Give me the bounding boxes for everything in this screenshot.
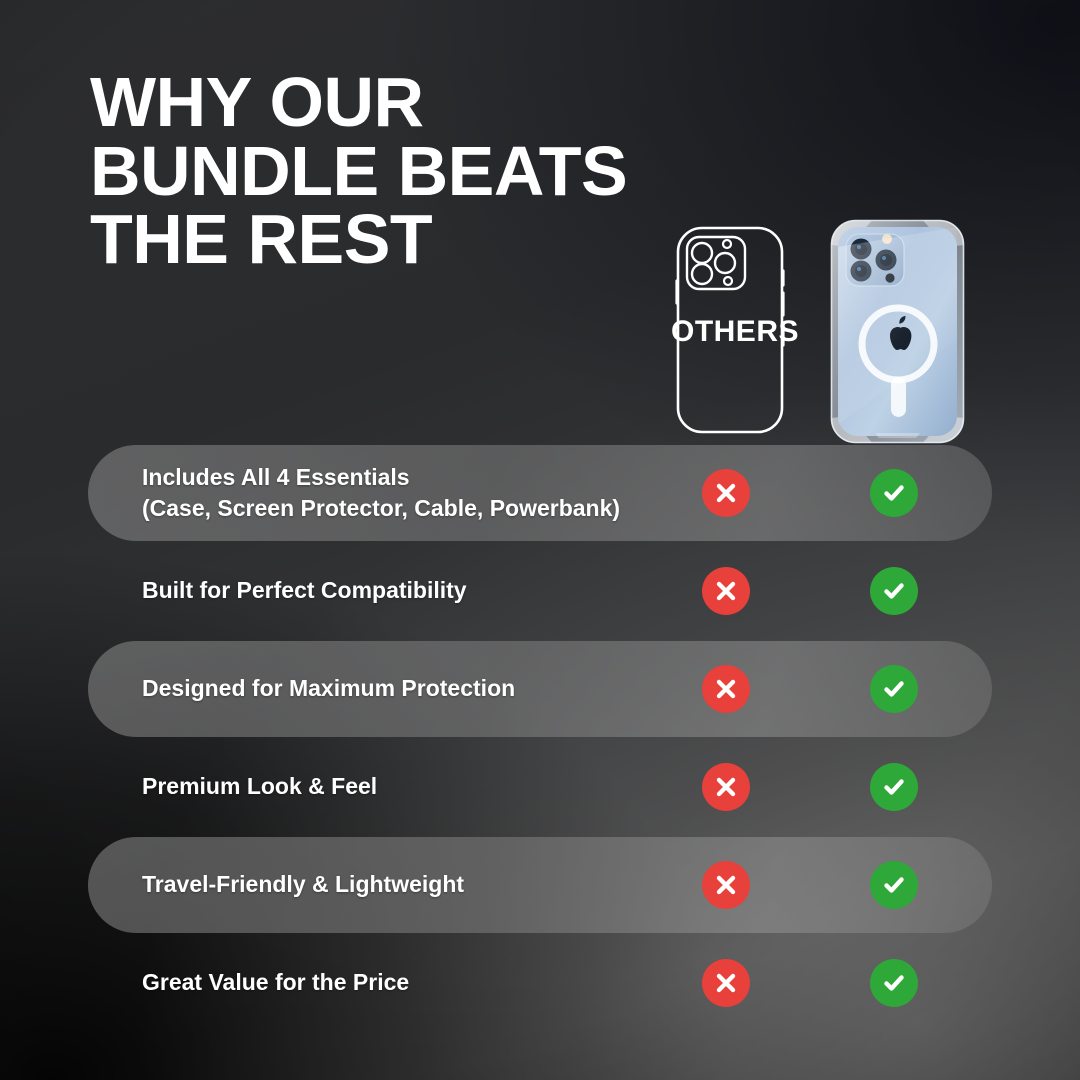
cross-icon (702, 665, 750, 713)
table-row[interactable]: Travel-Friendly & Lightweight (88, 837, 992, 933)
row-label-line-1: Designed for Maximum Protection (142, 675, 515, 701)
row-label: Travel-Friendly & Lightweight (142, 869, 464, 900)
check-icon (870, 959, 918, 1007)
cross-icon (702, 567, 750, 615)
row-label: Designed for Maximum Protection (142, 673, 515, 704)
table-row[interactable]: Built for Perfect Compatibility (88, 543, 992, 639)
check-icon (870, 763, 918, 811)
check-icon (870, 665, 918, 713)
row-label-line-1: Built for Perfect Compatibility (142, 577, 467, 603)
row-label: Premium Look & Feel (142, 771, 377, 802)
cross-icon (702, 469, 750, 517)
row-label-line-1: Great Value for the Price (142, 969, 409, 995)
row-label-line-1: Travel-Friendly & Lightweight (142, 871, 464, 897)
check-icon (870, 861, 918, 909)
row-label: Includes All 4 Essentials (Case, Screen … (142, 462, 620, 524)
row-label-line-1: Premium Look & Feel (142, 773, 377, 799)
cross-icon (702, 763, 750, 811)
table-row[interactable]: Designed for Maximum Protection (88, 641, 992, 737)
cross-icon (702, 861, 750, 909)
row-label-line-1: Includes All 4 Essentials (142, 464, 410, 490)
table-row[interactable]: Premium Look & Feel (88, 739, 992, 835)
comparison-table: Includes All 4 Essentials (Case, Screen … (0, 0, 1080, 1080)
table-row[interactable]: Includes All 4 Essentials (Case, Screen … (88, 445, 992, 541)
row-label-line-2: (Case, Screen Protector, Cable, Powerban… (142, 493, 620, 524)
table-row[interactable]: Great Value for the Price (88, 935, 992, 1031)
comparison-infographic: WHY OUR BUNDLE BEATS THE REST OTHERS (0, 0, 1080, 1080)
check-icon (870, 469, 918, 517)
check-icon (870, 567, 918, 615)
cross-icon (702, 959, 750, 1007)
row-label: Built for Perfect Compatibility (142, 575, 467, 606)
row-label: Great Value for the Price (142, 967, 409, 998)
